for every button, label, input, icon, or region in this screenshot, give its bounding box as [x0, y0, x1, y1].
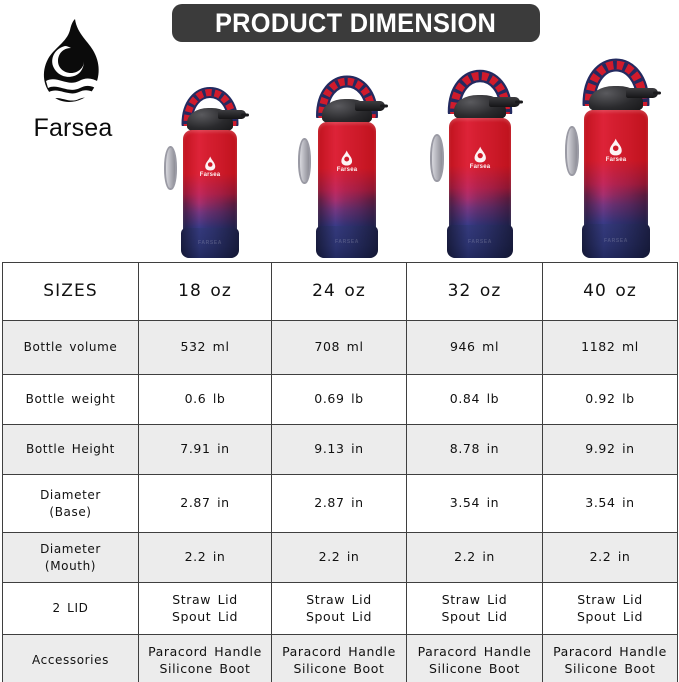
cell-height-40oz: 9.92 in — [543, 425, 678, 475]
cell-lid-32oz: Straw Lid Spout Lid — [407, 583, 543, 635]
bottle-40oz: Farsea FARSEA — [553, 28, 679, 258]
row-label-diameter-base: Diameter (Base) — [3, 475, 139, 533]
cell-volume-24oz: 708 ml — [272, 321, 407, 375]
hero-section: Farsea PRODUCT DIMENSION — [0, 0, 679, 258]
carabiner-clip-icon — [298, 138, 311, 184]
column-header-sizes: SIZES — [3, 263, 139, 321]
cell-accessories-24oz-line2: Silicone Boot — [274, 661, 404, 678]
spout-lid — [355, 101, 385, 111]
spout-lid — [218, 110, 246, 119]
cell-diameter-mouth-24oz: 2.2 in — [272, 533, 407, 583]
cell-accessories-18oz-line2: Silicone Boot — [141, 661, 269, 678]
cell-diameter-base-18oz: 2.87 in — [139, 475, 272, 533]
column-header-40oz: 40 oz — [543, 263, 678, 321]
row-label-diameter-mouth: Diameter (Mouth) — [3, 533, 139, 583]
cell-lid-40oz-line2: Spout Lid — [545, 609, 675, 626]
cell-lid-32oz-line1: Straw Lid — [409, 592, 540, 609]
cell-lid-40oz-line1: Straw Lid — [545, 592, 675, 609]
cell-diameter-mouth-40oz: 2.2 in — [543, 533, 678, 583]
silicone-boot: FARSEA — [447, 225, 513, 258]
cell-volume-32oz: 946 ml — [407, 321, 543, 375]
spout-lid — [489, 97, 520, 107]
cell-accessories-18oz-line1: Paracord Handle — [141, 644, 269, 661]
carabiner-clip-icon — [430, 134, 444, 182]
cell-lid-24oz: Straw Lid Spout Lid — [272, 583, 407, 635]
cell-height-32oz: 8.78 in — [407, 425, 543, 475]
column-header-24oz: 24 oz — [272, 263, 407, 321]
cell-accessories-32oz: Paracord Handle Silicone Boot — [407, 635, 543, 682]
cell-weight-18oz: 0.6 lb — [139, 375, 272, 425]
silicone-boot: FARSEA — [316, 226, 378, 258]
table-row: Bottle weight 0.6 lb 0.69 lb 0.84 lb 0.9… — [3, 375, 678, 425]
row-label-bottle-weight: Bottle weight — [3, 375, 139, 425]
table-row: Diameter (Base) 2.87 in 2.87 in 3.54 in … — [3, 475, 678, 533]
cell-weight-24oz: 0.69 lb — [272, 375, 407, 425]
specifications-table: SIZES 18 oz 24 oz 32 oz 40 oz Bottle vol… — [2, 262, 678, 682]
boot-embossed-text: FARSEA — [335, 239, 359, 245]
brand-logo: Farsea — [14, 18, 132, 141]
bottle-24oz: Farsea FARSEA — [287, 46, 407, 258]
row-label-bottle-height: Bottle Height — [3, 425, 139, 475]
boot-embossed-text: FARSEA — [198, 240, 222, 246]
brand-name: Farsea — [14, 116, 132, 141]
row-label-2-lid: 2 LID — [3, 583, 139, 635]
silicone-boot: FARSEA — [181, 228, 239, 258]
cell-lid-24oz-line1: Straw Lid — [274, 592, 404, 609]
cell-accessories-40oz-line1: Paracord Handle — [545, 644, 675, 661]
cell-diameter-mouth-32oz: 2.2 in — [407, 533, 543, 583]
silicone-boot: FARSEA — [582, 224, 650, 258]
cell-diameter-mouth-18oz: 2.2 in — [139, 533, 272, 583]
water-droplet-wave-logo-icon — [37, 18, 109, 114]
cell-weight-40oz: 0.92 lb — [543, 375, 678, 425]
product-dimension-infographic: Farsea PRODUCT DIMENSION — [0, 0, 679, 682]
row-label-accessories: Accessories — [3, 635, 139, 682]
table-header-row: SIZES 18 oz 24 oz 32 oz 40 oz — [3, 263, 678, 321]
page-title: PRODUCT DIMENSION — [172, 4, 540, 42]
cell-weight-32oz: 0.84 lb — [407, 375, 543, 425]
row-label-diameter-mouth-line1: Diameter — [5, 541, 136, 557]
cell-lid-40oz: Straw Lid Spout Lid — [543, 583, 678, 635]
cell-diameter-base-32oz: 3.54 in — [407, 475, 543, 533]
table-row: 2 LID Straw Lid Spout Lid Straw Lid Spou… — [3, 583, 678, 635]
table-row: Bottle volume 532 ml 708 ml 946 ml 1182 … — [3, 321, 678, 375]
cell-diameter-base-40oz: 3.54 in — [543, 475, 678, 533]
bottle-18oz: Farsea FARSEA — [152, 60, 268, 258]
table-row: Diameter (Mouth) 2.2 in 2.2 in 2.2 in 2.… — [3, 533, 678, 583]
cell-accessories-24oz: Paracord Handle Silicone Boot — [272, 635, 407, 682]
cell-lid-24oz-line2: Spout Lid — [274, 609, 404, 626]
cell-accessories-40oz-line2: Silicone Boot — [545, 661, 675, 678]
bottle-32oz: Farsea FARSEA — [418, 40, 542, 258]
table-row: Accessories Paracord Handle Silicone Boo… — [3, 635, 678, 682]
cell-height-18oz: 7.91 in — [139, 425, 272, 475]
table-row: Bottle Height 7.91 in 9.13 in 8.78 in 9.… — [3, 425, 678, 475]
column-header-32oz: 32 oz — [407, 263, 543, 321]
cell-diameter-base-24oz: 2.87 in — [272, 475, 407, 533]
carabiner-clip-icon — [565, 126, 579, 176]
row-label-bottle-volume: Bottle volume — [3, 321, 139, 375]
cell-accessories-32oz-line2: Silicone Boot — [409, 661, 540, 678]
cell-accessories-32oz-line1: Paracord Handle — [409, 644, 540, 661]
cell-height-24oz: 9.13 in — [272, 425, 407, 475]
cell-lid-32oz-line2: Spout Lid — [409, 609, 540, 626]
cell-volume-40oz: 1182 ml — [543, 321, 678, 375]
carabiner-clip-icon — [164, 146, 177, 190]
column-header-18oz: 18 oz — [139, 263, 272, 321]
row-label-diameter-base-line2: (Base) — [5, 504, 136, 520]
cell-accessories-40oz: Paracord Handle Silicone Boot — [543, 635, 678, 682]
boot-embossed-text: FARSEA — [604, 238, 628, 244]
page-title-text: PRODUCT DIMENSION — [215, 8, 496, 39]
boot-embossed-text: FARSEA — [468, 239, 492, 245]
cell-lid-18oz-line1: Straw Lid — [141, 592, 269, 609]
spout-lid — [626, 88, 658, 98]
cell-lid-18oz-line2: Spout Lid — [141, 609, 269, 626]
cell-volume-18oz: 532 ml — [139, 321, 272, 375]
cell-accessories-24oz-line1: Paracord Handle — [274, 644, 404, 661]
row-label-diameter-mouth-line2: (Mouth) — [5, 558, 136, 574]
cell-lid-18oz: Straw Lid Spout Lid — [139, 583, 272, 635]
cell-accessories-18oz: Paracord Handle Silicone Boot — [139, 635, 272, 682]
row-label-diameter-base-line1: Diameter — [5, 487, 136, 503]
